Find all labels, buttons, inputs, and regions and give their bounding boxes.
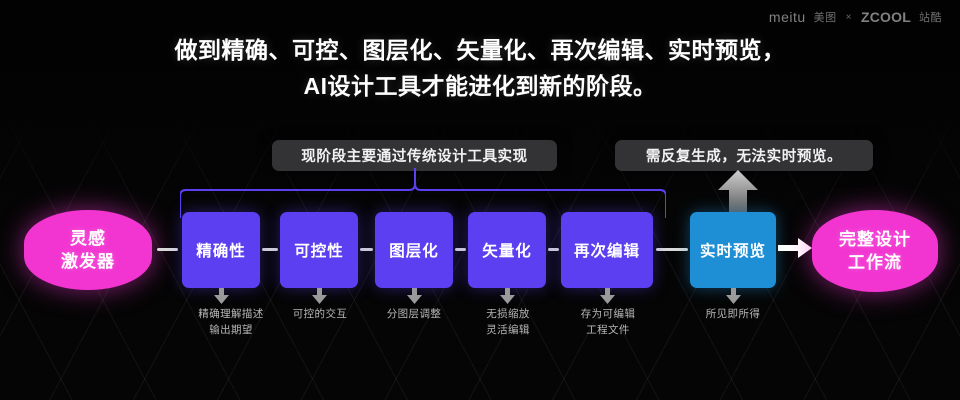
flow-node-end-line-1: 完整设计 <box>839 228 911 251</box>
down-arrow-icon-6 <box>726 288 741 304</box>
connector-dash-2 <box>360 248 373 251</box>
caption-reediting-line-1: 存为可编辑 <box>553 307 663 323</box>
caption-realtime-preview-line-1: 所见即所得 <box>678 307 788 323</box>
flow-node-precision-label: 精确性 <box>196 239 246 261</box>
callout-left: 现阶段主要通过传统设计工具实现 <box>272 140 557 171</box>
caption-vectorization-line-1: 无损缩放 <box>453 307 563 323</box>
connector-dash-0 <box>157 248 178 251</box>
flow-node-end-line-2: 工作流 <box>839 251 911 274</box>
page-title-line-1: 做到精确、可控、图层化、矢量化、再次编辑、实时预览， <box>175 37 786 63</box>
connector-dash-3 <box>455 248 466 251</box>
connector-dash-1 <box>262 248 278 251</box>
callout-right-label: 需反复生成，无法实时预览。 <box>646 145 842 166</box>
flow-node-start-line-2: 激发器 <box>61 250 115 273</box>
flow-node-controllability-label: 可控性 <box>294 239 344 261</box>
caption-vectorization: 无损缩放 灵活编辑 <box>453 307 563 339</box>
brand-meitu-cjk: 美图 <box>814 9 837 25</box>
brand-zcool-latin: ZCOOL <box>861 9 911 25</box>
down-arrow-icon-1 <box>214 288 229 304</box>
flow-node-precision[interactable]: 精确性 <box>182 212 260 288</box>
flow-node-realtime-preview[interactable]: 实时预览 <box>690 212 776 288</box>
page-title-line-2: AI设计工具才能进化到新的阶段。 <box>0 68 960 104</box>
flow-node-start[interactable]: 灵感 激发器 <box>24 210 152 290</box>
flow-node-vectorization[interactable]: 矢量化 <box>468 212 546 288</box>
callout-left-label: 现阶段主要通过传统设计工具实现 <box>301 145 528 166</box>
brand-meitu-latin: meitu <box>769 9 806 25</box>
flow-node-realtime-preview-label: 实时预览 <box>700 239 766 261</box>
down-arrow-icon-5 <box>600 288 615 304</box>
down-arrow-icon-2 <box>312 288 327 304</box>
brand-separator-icon: × <box>846 12 852 23</box>
flow-node-end[interactable]: 完整设计 工作流 <box>812 210 938 292</box>
caption-precision-line-2: 输出期望 <box>161 323 301 339</box>
flow-node-reediting[interactable]: 再次编辑 <box>561 212 653 288</box>
flow-node-layering-label: 图层化 <box>389 239 439 261</box>
down-arrow-icon-3 <box>407 288 422 304</box>
brand-lockup: meitu 美图 × ZCOOL 站酷 <box>769 9 942 25</box>
caption-realtime-preview: 所见即所得 <box>678 307 788 323</box>
callout-right: 需反复生成，无法实时预览。 <box>615 140 873 171</box>
bracket-connector <box>180 168 666 218</box>
flow-node-controllability[interactable]: 可控性 <box>280 212 358 288</box>
slide-canvas: meitu 美图 × ZCOOL 站酷 做到精确、可控、图层化、矢量化、再次编辑… <box>0 0 960 400</box>
flow-node-start-line-1: 灵感 <box>61 227 115 250</box>
brand-zcool-cjk: 站酷 <box>919 9 942 25</box>
flow-node-layering[interactable]: 图层化 <box>375 212 453 288</box>
page-title: 做到精确、可控、图层化、矢量化、再次编辑、实时预览， AI设计工具才能进化到新的… <box>0 32 960 105</box>
right-arrow-icon <box>778 236 812 260</box>
flow-node-reediting-label: 再次编辑 <box>574 239 640 261</box>
flow-node-vectorization-label: 矢量化 <box>482 239 532 261</box>
connector-dash-4 <box>548 248 559 251</box>
down-arrow-icon-4 <box>500 288 515 304</box>
caption-reediting-line-2: 工程文件 <box>553 323 663 339</box>
connector-dash-5 <box>656 248 688 251</box>
caption-vectorization-line-2: 灵活编辑 <box>453 323 563 339</box>
caption-reediting: 存为可编辑 工程文件 <box>553 307 663 339</box>
